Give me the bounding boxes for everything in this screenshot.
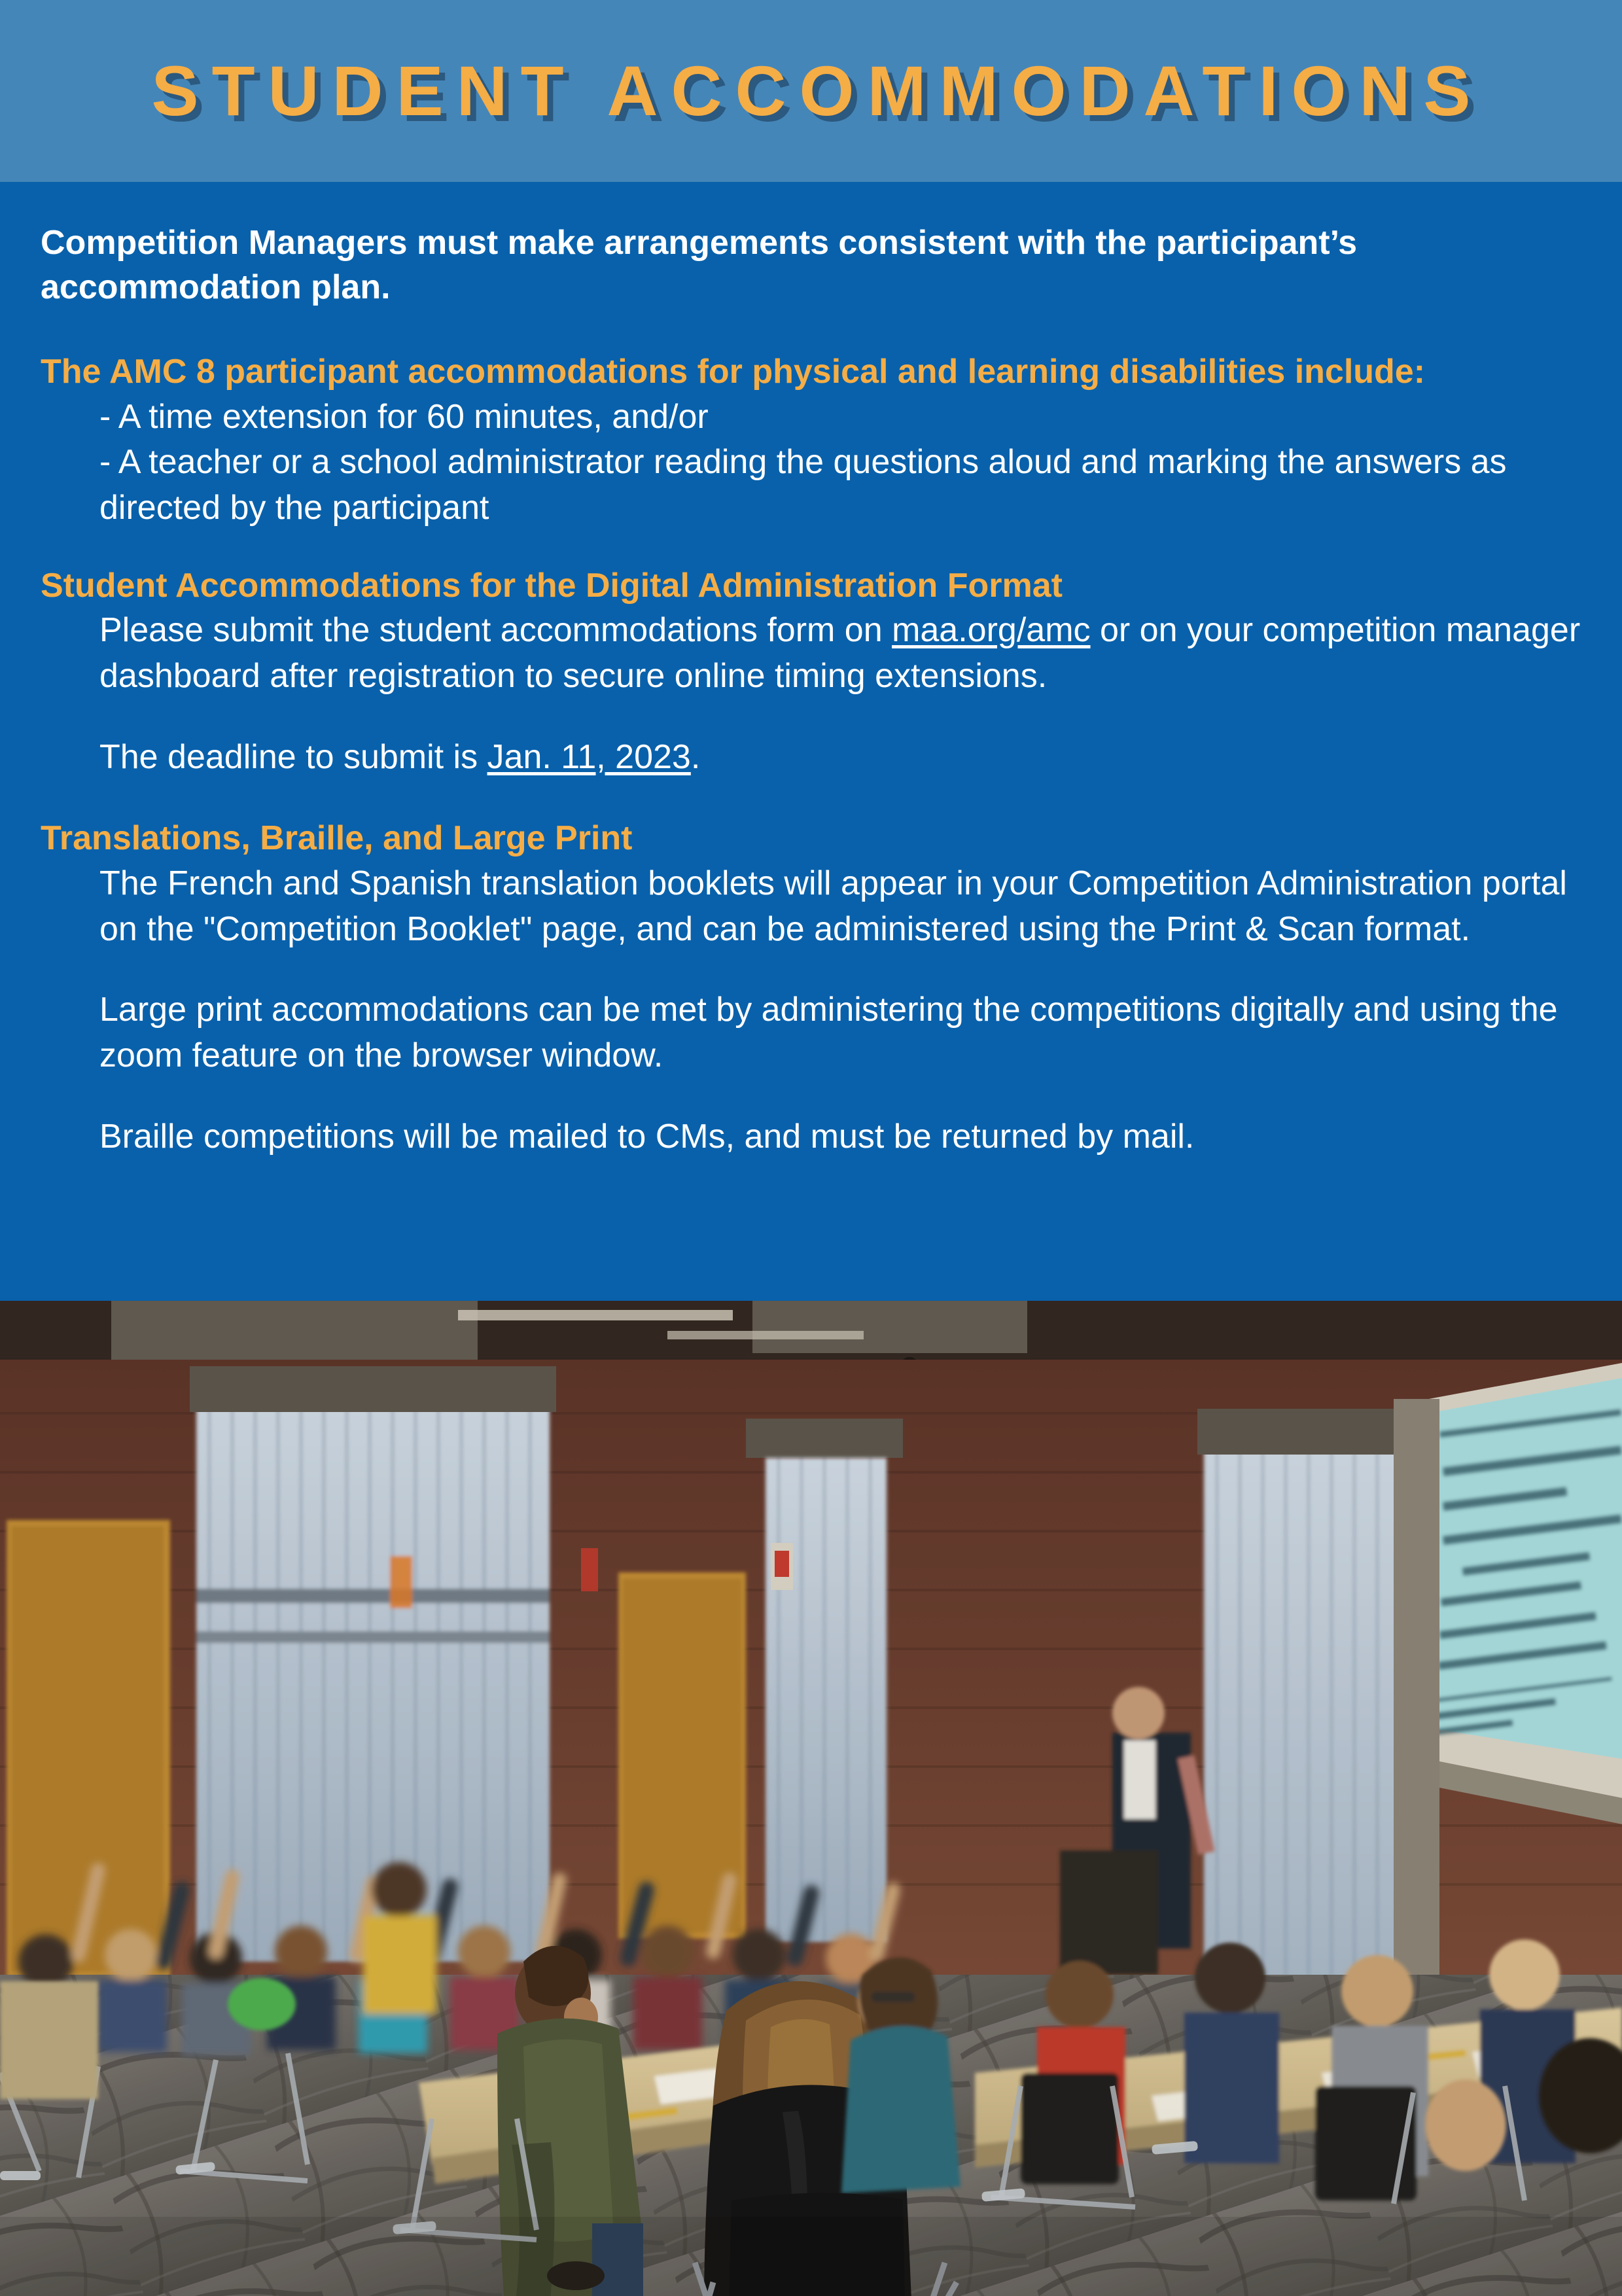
- intro-paragraph: Competition Managers must make arrangeme…: [41, 221, 1467, 309]
- page-title: STUDENT ACCOMMODATIONS: [139, 56, 1484, 126]
- list-item: - A time extension for 60 minutes, and/o…: [99, 395, 1581, 440]
- section-heading-amc8: The AMC 8 participant accommodations for…: [41, 350, 1581, 395]
- braille-paragraph: Braille competitions will be mailed to C…: [99, 1114, 1581, 1160]
- amc8-bullet-list: - A time extension for 60 minutes, and/o…: [99, 395, 1581, 531]
- deadline-text-before: The deadline to submit is: [99, 738, 487, 776]
- translations-body: The French and Spanish translation bookl…: [99, 861, 1581, 1159]
- deadline-paragraph: The deadline to submit is Jan. 11, 2023.: [99, 735, 1581, 781]
- deadline-date: Jan. 11, 2023: [487, 738, 691, 776]
- digital-format-paragraph: Please submit the student accommodations…: [99, 608, 1581, 699]
- section-heading-digital-format: Student Accommodations for the Digital A…: [41, 564, 1581, 609]
- section-amc8-accommodations: The AMC 8 participant accommodations for…: [41, 350, 1581, 531]
- section-heading-translations: Translations, Braille, and Large Print: [41, 817, 1581, 861]
- classroom-photo: [0, 1301, 1622, 2296]
- deadline-text-after: .: [691, 738, 700, 776]
- page-header-band: STUDENT ACCOMMODATIONS: [0, 0, 1622, 182]
- section-digital-administration: Student Accommodations for the Digital A…: [41, 564, 1581, 781]
- large-print-paragraph: Large print accommodations can be met by…: [99, 987, 1581, 1078]
- translations-paragraph: The French and Spanish translation bookl…: [99, 861, 1581, 952]
- digital-format-body: Please submit the student accommodations…: [99, 608, 1581, 780]
- text-before-link: Please submit the student accommodations…: [99, 611, 892, 649]
- maa-amc-link[interactable]: maa.org/amc: [892, 611, 1090, 649]
- list-item: - A teacher or a school administrator re…: [99, 440, 1581, 531]
- section-translations-braille-large-print: Translations, Braille, and Large Print T…: [41, 817, 1581, 1159]
- classroom-photo-illustration: [0, 1301, 1622, 2296]
- content-panel: Competition Managers must make arrangeme…: [0, 182, 1622, 1301]
